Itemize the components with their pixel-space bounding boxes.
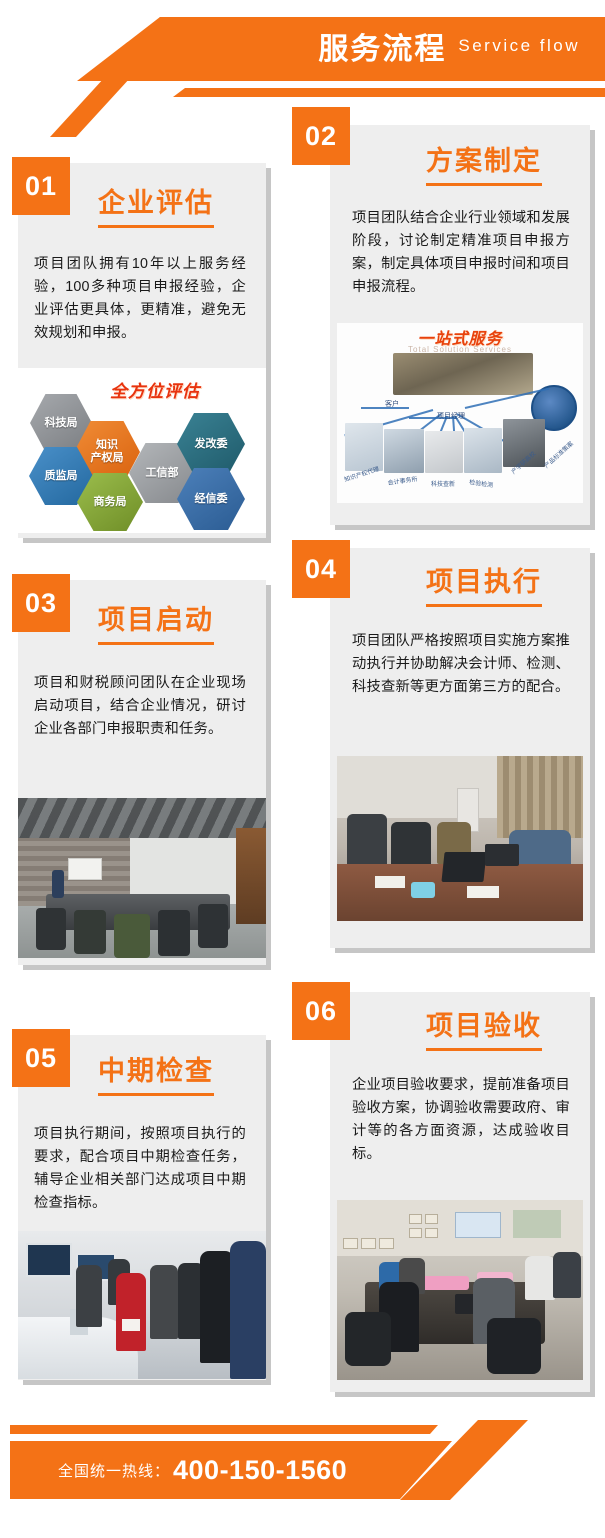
page-title-en: Service flow bbox=[458, 36, 580, 55]
step-title-05: 中期检查 bbox=[98, 1049, 214, 1096]
ceiling-panels bbox=[18, 798, 266, 840]
step-card-04: 04 项目执行 项目团队严格按照项目实施方案推动执行并协助解决会计师、检测、科技… bbox=[330, 548, 590, 948]
step-number-badge-06: 06 bbox=[292, 982, 350, 1040]
wall-certificate bbox=[425, 1214, 438, 1224]
acceptance-meeting-photo bbox=[337, 1200, 583, 1380]
step-card-05: 05 中期检查 项目执行期间，按照项目执行的要求，配合项目中期检查任务，辅导企业… bbox=[18, 1035, 266, 1380]
person-standing bbox=[52, 870, 64, 898]
service-caption-standard: 产品标准策案 bbox=[542, 439, 575, 470]
step-card-06: 06 项目验收 企业项目验收要求，提前准备项目验收方案，协调验收需要政府、审计等… bbox=[330, 992, 590, 1392]
page-header: 服务流程Service flow bbox=[0, 0, 605, 120]
service-flow-poster: 服务流程Service flow 01 企业评估 项目团队拥有10年以上服务经验… bbox=[0, 0, 605, 1538]
chair bbox=[74, 910, 106, 954]
step-number-badge-05: 05 bbox=[12, 1029, 70, 1087]
whiteboard bbox=[513, 1210, 561, 1238]
one-stop-node-customer: 客户 bbox=[385, 399, 399, 409]
person-white-shirt bbox=[525, 1256, 555, 1300]
chair bbox=[198, 904, 228, 948]
hexagon-diagram-title: 全方位评估 bbox=[110, 377, 200, 402]
step-card-03: 03 项目启动 项目和财税顾问团队在企业现场启动项目，结合企业情况，研讨企业各部… bbox=[18, 580, 266, 965]
person-glasses bbox=[76, 1265, 102, 1327]
step-card-02: 02 方案制定 项目团队结合企业行业领域和发展阶段，讨论制定精准项目申报方案，制… bbox=[330, 125, 590, 525]
step-text-02: 项目团队结合企业行业领域和发展阶段，讨论制定精准项目申报方案，制定具体项目申报时… bbox=[352, 207, 570, 300]
step-title-01: 企业评估 bbox=[98, 181, 214, 228]
wall-certificate bbox=[343, 1238, 358, 1249]
step-title-06: 项目验收 bbox=[426, 1004, 542, 1051]
whiteboard bbox=[68, 858, 102, 880]
paper bbox=[467, 886, 499, 898]
person-navy-jacket bbox=[230, 1241, 266, 1379]
hotline-number: 400-150-1560 bbox=[173, 1455, 347, 1485]
wall-certificate bbox=[409, 1228, 422, 1238]
projection-screen bbox=[455, 1212, 501, 1238]
service-caption-testing: 检验检测 bbox=[469, 477, 494, 489]
service-tile-testing bbox=[464, 428, 502, 473]
step-number-badge-03: 03 bbox=[12, 574, 70, 632]
step-text-03: 项目和财税顾问团队在企业现场启动项目，结合企业情况，研讨企业各部门申报职责和任务… bbox=[34, 672, 246, 741]
paper bbox=[375, 876, 405, 888]
laptop bbox=[441, 852, 486, 882]
step-title-03: 项目启动 bbox=[98, 598, 214, 645]
wall-certificate bbox=[425, 1228, 438, 1238]
hexagon-assessment-diagram: 全方位评估 科技局 知识 产权局 质监局 工信部 商务局 发改委 经信委 bbox=[18, 368, 266, 533]
page-title: 服务流程Service flow bbox=[0, 24, 580, 68]
showroom-visit-photo bbox=[18, 1231, 266, 1379]
person-green-coat bbox=[114, 914, 150, 958]
page-title-cn: 服务流程 bbox=[318, 33, 446, 66]
page-footer: 全国统一热线：400-150-1560 bbox=[0, 1425, 605, 1538]
service-caption-accounting: 会计事务所 bbox=[387, 474, 418, 487]
step-number-badge-04: 04 bbox=[292, 540, 350, 598]
one-stop-service-diagram: 一站式服务 Total Solution Services 客户 项目经理 知识… bbox=[337, 323, 583, 503]
wood-column bbox=[236, 828, 266, 924]
chair bbox=[158, 910, 190, 956]
one-stop-hero-photo bbox=[393, 353, 533, 395]
step-number-badge-02: 02 bbox=[292, 107, 350, 165]
curtain bbox=[497, 756, 583, 838]
wall-screen bbox=[26, 1243, 72, 1277]
person-black-jacket bbox=[200, 1251, 234, 1363]
documents bbox=[122, 1319, 140, 1331]
step-text-06: 企业项目验收要求，提前准备项目验收方案，协调验收需要政府、审计等的各方面资源，达… bbox=[352, 1074, 570, 1167]
step-number-badge-01: 01 bbox=[12, 157, 70, 215]
step-title-04: 项目执行 bbox=[426, 560, 542, 607]
wall-certificate bbox=[379, 1238, 394, 1249]
hotline-label: 全国统一热线： bbox=[58, 1463, 170, 1480]
step-text-04: 项目团队严格按照项目实施方案推动执行并协助解决会计师、检测、科技查新等更方面第三… bbox=[352, 630, 570, 699]
step-text-01: 项目团队拥有10年以上服务经验，100多种项目申报经验，企业评估更具体，更精准，… bbox=[34, 253, 246, 346]
person-red-coat bbox=[116, 1273, 146, 1351]
hotline: 全国统一热线：400-150-1560 bbox=[58, 1455, 347, 1486]
service-caption-search: 科技查新 bbox=[431, 479, 455, 488]
step-card-01: 01 企业评估 项目团队拥有10年以上服务经验，100多种项目申报经验，企业评估… bbox=[18, 163, 266, 538]
step-title-02: 方案制定 bbox=[426, 139, 542, 186]
wall-certificate bbox=[409, 1214, 422, 1224]
service-tile-accounting bbox=[384, 429, 424, 473]
chair bbox=[36, 908, 66, 950]
laptop bbox=[485, 844, 519, 866]
step-text-05: 项目执行期间，按照项目执行的要求，配合项目中期检查任务，辅导企业相关部门达成项目… bbox=[34, 1123, 246, 1216]
blue-bag bbox=[411, 882, 435, 898]
team-working-laptops-photo bbox=[337, 756, 583, 921]
service-tile-search bbox=[425, 431, 463, 473]
conference-room-kickoff-photo bbox=[18, 798, 266, 958]
one-stop-node-manager: 项目经理 bbox=[437, 411, 465, 421]
wall-certificate bbox=[361, 1238, 376, 1249]
office-chair bbox=[487, 1318, 541, 1374]
person-center bbox=[150, 1265, 178, 1339]
office-chair bbox=[345, 1312, 391, 1366]
person-right bbox=[553, 1252, 581, 1298]
